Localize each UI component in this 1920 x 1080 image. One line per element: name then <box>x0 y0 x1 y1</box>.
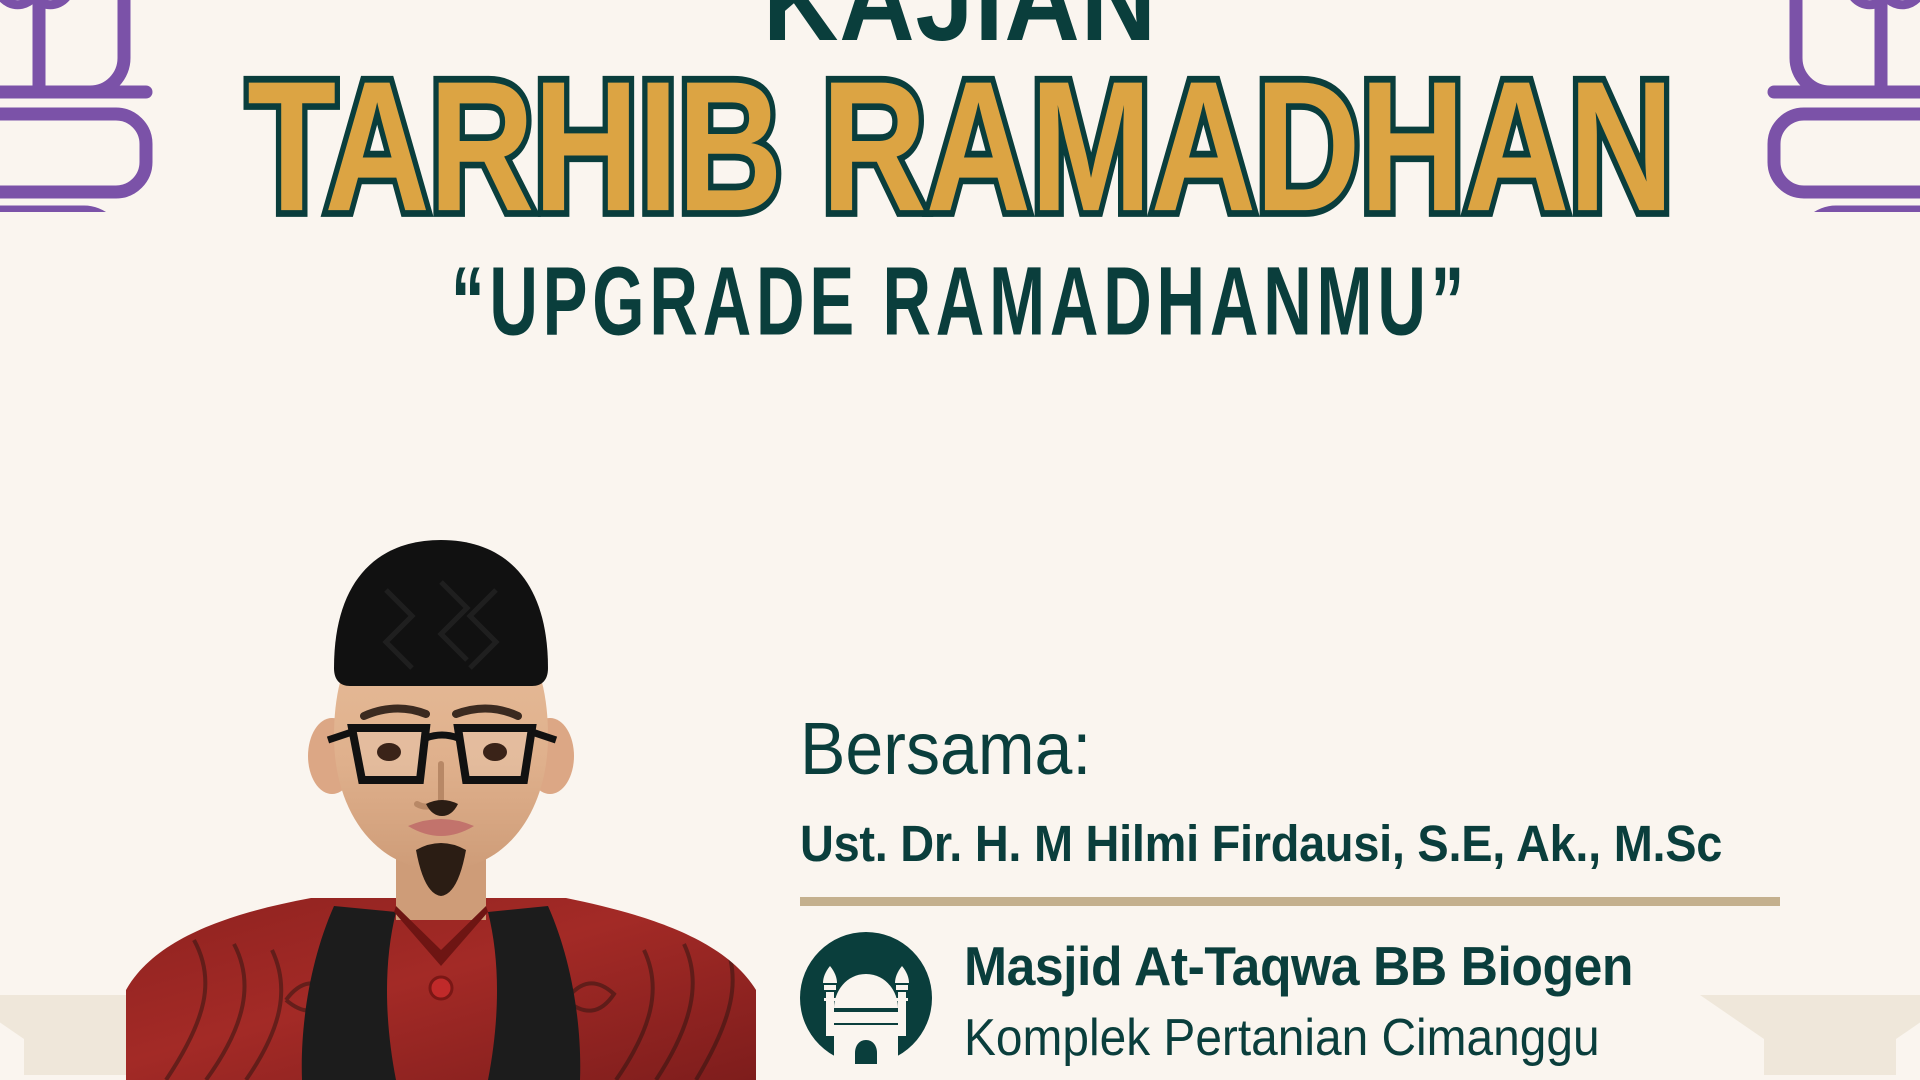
venue-row: Masjid At-Taqwa BB Biogen Komplek Pertan… <box>800 932 1860 1069</box>
page-title: TARHIB RAMADHAN <box>38 54 1881 239</box>
poster-canvas: KAJIAN TARHIB RAMADHAN “UPGRADE RAMADHAN… <box>0 0 1920 1080</box>
mosque-icon <box>800 932 932 1069</box>
speaker-portrait-image <box>96 520 786 1080</box>
venue-name: Masjid At-Taqwa BB Biogen <box>964 938 1633 996</box>
section-divider <box>800 897 1780 906</box>
event-info-block: Bersama: Ust. Dr. H. M Hilmi Firdausi, S… <box>800 710 1860 1069</box>
page-subtitle: “UPGRADE RAMADHANMU” <box>192 252 1728 349</box>
venue-address: Komplek Pertanian Cimanggu <box>964 1011 1619 1066</box>
speaker-name: Ust. Dr. H. M Hilmi Firdausi, S.E, Ak., … <box>800 814 1775 873</box>
venue-text: Masjid At-Taqwa BB Biogen Komplek Pertan… <box>964 932 1676 1066</box>
headline-block: KAJIAN TARHIB RAMADHAN “UPGRADE RAMADHAN… <box>0 0 1920 336</box>
with-label: Bersama: <box>800 710 1775 788</box>
